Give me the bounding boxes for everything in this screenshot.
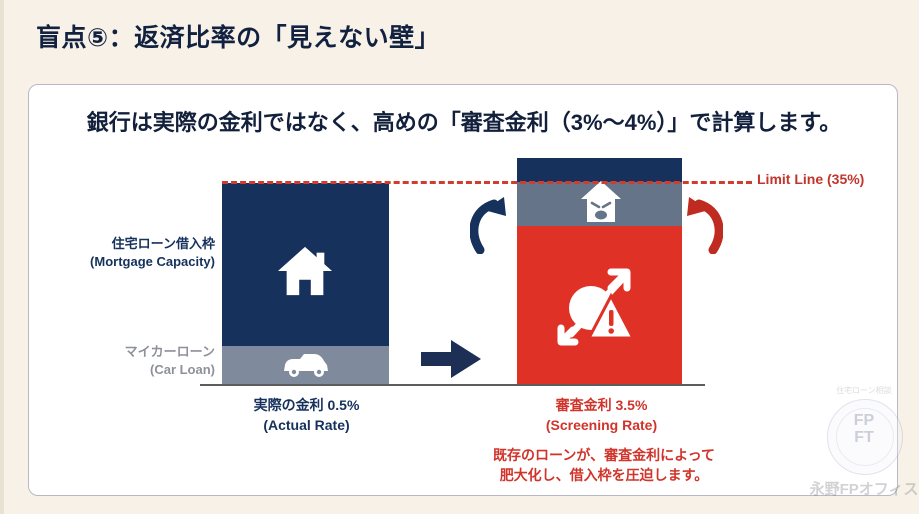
watermark-brand-text: 永野FPオフィス [794, 478, 919, 499]
watermark: 住宅ローン相談 FP FT 永野FPオフィス [799, 385, 919, 505]
watermark-badge: FP FT [827, 413, 901, 447]
label-car-loan: マイカーローン (Car Loan) [29, 343, 215, 378]
bar-segment-car-loan [222, 346, 389, 384]
content-card: 銀行は実際の金利ではなく、高めの「審査金利（3%〜4%）」で計算します。 [28, 84, 898, 496]
caption-screening-note-line2: 肥大化し、借入枠を圧迫します。 [449, 465, 759, 485]
slide-root: 盲点⑤：返済比率の「見えない壁」 銀行は実際の金利ではなく、高めの「審査金利（3… [0, 0, 919, 514]
caption-actual-rate-jp: 実際の金利 0.5% [219, 395, 394, 415]
bar-segment-mortgage-capacity-squeezed [517, 226, 682, 384]
watermark-badge-line1: FP [827, 413, 901, 430]
sad-house-icon [579, 178, 623, 226]
bar-segment-mortgage-capacity [222, 183, 389, 346]
caption-actual-rate: 実際の金利 0.5% (Actual Rate) [219, 395, 394, 436]
caption-screening-note: 既存のローンが、審査金利によって 肥大化し、借入枠を圧迫します。 [449, 445, 759, 486]
chart-baseline [200, 384, 705, 386]
bar-segment-car-loan-inflated [517, 182, 682, 226]
label-mortgage-jp: 住宅ローン借入枠 [29, 235, 215, 253]
house-icon [274, 243, 336, 299]
caption-screening-rate: 審査金利 3.5% (Screening Rate) [484, 395, 719, 436]
curved-arrow-up-icon [470, 188, 518, 254]
label-mortgage-capacity: 住宅ローン借入枠 (Mortgage Capacity) [29, 235, 215, 270]
car-icon [280, 353, 332, 379]
bar-screening-rate [517, 158, 682, 384]
right-arrow-icon [421, 338, 483, 380]
expand-warning-icon [553, 264, 645, 350]
caption-screening-rate-jp: 審査金利 3.5% [484, 395, 719, 415]
curved-arrow-up-icon [675, 188, 723, 254]
watermark-badge-line2: FT [827, 430, 901, 447]
label-car-en: (Car Loan) [29, 361, 215, 379]
caption-screening-note-line1: 既存のローンが、審査金利によって [449, 445, 759, 465]
label-mortgage-en: (Mortgage Capacity) [29, 253, 215, 271]
comparison-chart: Limit Line (35%) 住宅ローン借入枠 (Mortgage Capa… [29, 85, 899, 497]
label-car-jp: マイカーローン [29, 343, 215, 361]
limit-line-label: Limit Line (35%) [757, 171, 864, 187]
caption-screening-rate-en: (Screening Rate) [484, 415, 719, 435]
page-title: 盲点⑤：返済比率の「見えない壁」 [36, 18, 440, 54]
bar-actual-rate [222, 183, 389, 384]
watermark-top-text: 住宅ローン相談 [799, 385, 919, 396]
limit-line [222, 181, 752, 184]
caption-actual-rate-en: (Actual Rate) [219, 415, 394, 435]
